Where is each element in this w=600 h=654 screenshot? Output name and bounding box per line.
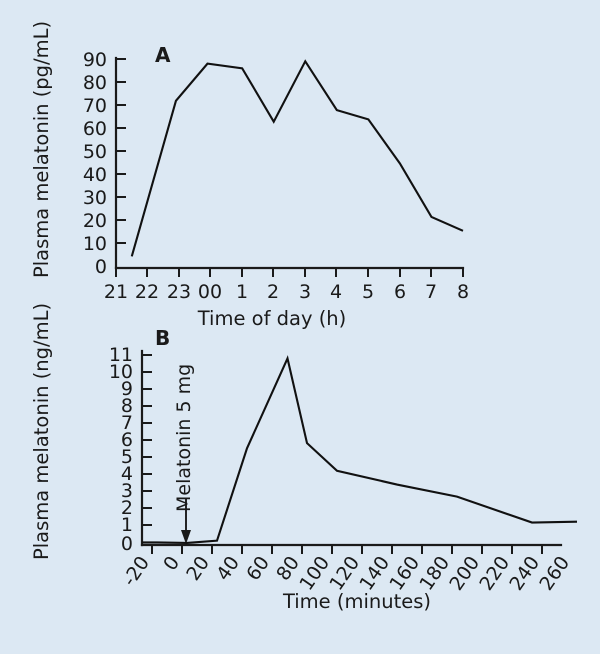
ytick-label: 30 <box>83 187 107 209</box>
ytick-label: 50 <box>83 141 107 163</box>
ytick-label: 40 <box>83 164 107 186</box>
ytick-label: 20 <box>83 210 107 232</box>
panel-a-ylabel: Plasma melatonin (pg/mL) <box>30 21 53 278</box>
annotation-label: Melatonin 5 mg <box>173 364 195 512</box>
panel-a-label: A <box>155 43 171 67</box>
xtick-label: 21 <box>104 281 128 303</box>
xtick-label: 22 <box>135 281 159 303</box>
two-panel-melatonin-figure: A Plasma melatonin (pg/mL) Time of day (… <box>0 0 600 654</box>
ytick-label: 0 <box>95 256 107 278</box>
panel-b-ylabel: Plasma melatonin (ng/mL) <box>30 303 53 560</box>
ytick-label: 70 <box>83 95 107 117</box>
xtick-label: 5 <box>362 281 374 303</box>
ytick-label: 80 <box>83 72 107 94</box>
panel-b-xlabel: Time (minutes) <box>282 590 431 613</box>
xtick-label: 23 <box>167 281 191 303</box>
panel-b-label: B <box>155 326 170 350</box>
xtick-label: 00 <box>198 281 222 303</box>
xtick-label: 4 <box>330 281 342 303</box>
xtick-label: 1 <box>236 281 248 303</box>
panel-a-xlabel: Time of day (h) <box>197 307 347 330</box>
ytick-label: 10 <box>83 233 107 255</box>
ytick-label: 90 <box>83 49 107 71</box>
figure-container: A Plasma melatonin (pg/mL) Time of day (… <box>0 0 600 654</box>
xtick-label: 7 <box>425 281 437 303</box>
panel-a-ytick-labels: 90 80 70 60 50 40 30 20 10 0 <box>83 49 107 278</box>
ytick-label: 60 <box>83 118 107 140</box>
xtick-label: 2 <box>267 281 279 303</box>
xtick-label: 6 <box>394 281 406 303</box>
xtick-label: 8 <box>457 281 469 303</box>
ytick-label: 0 <box>121 533 133 555</box>
xtick-label: 3 <box>299 281 311 303</box>
